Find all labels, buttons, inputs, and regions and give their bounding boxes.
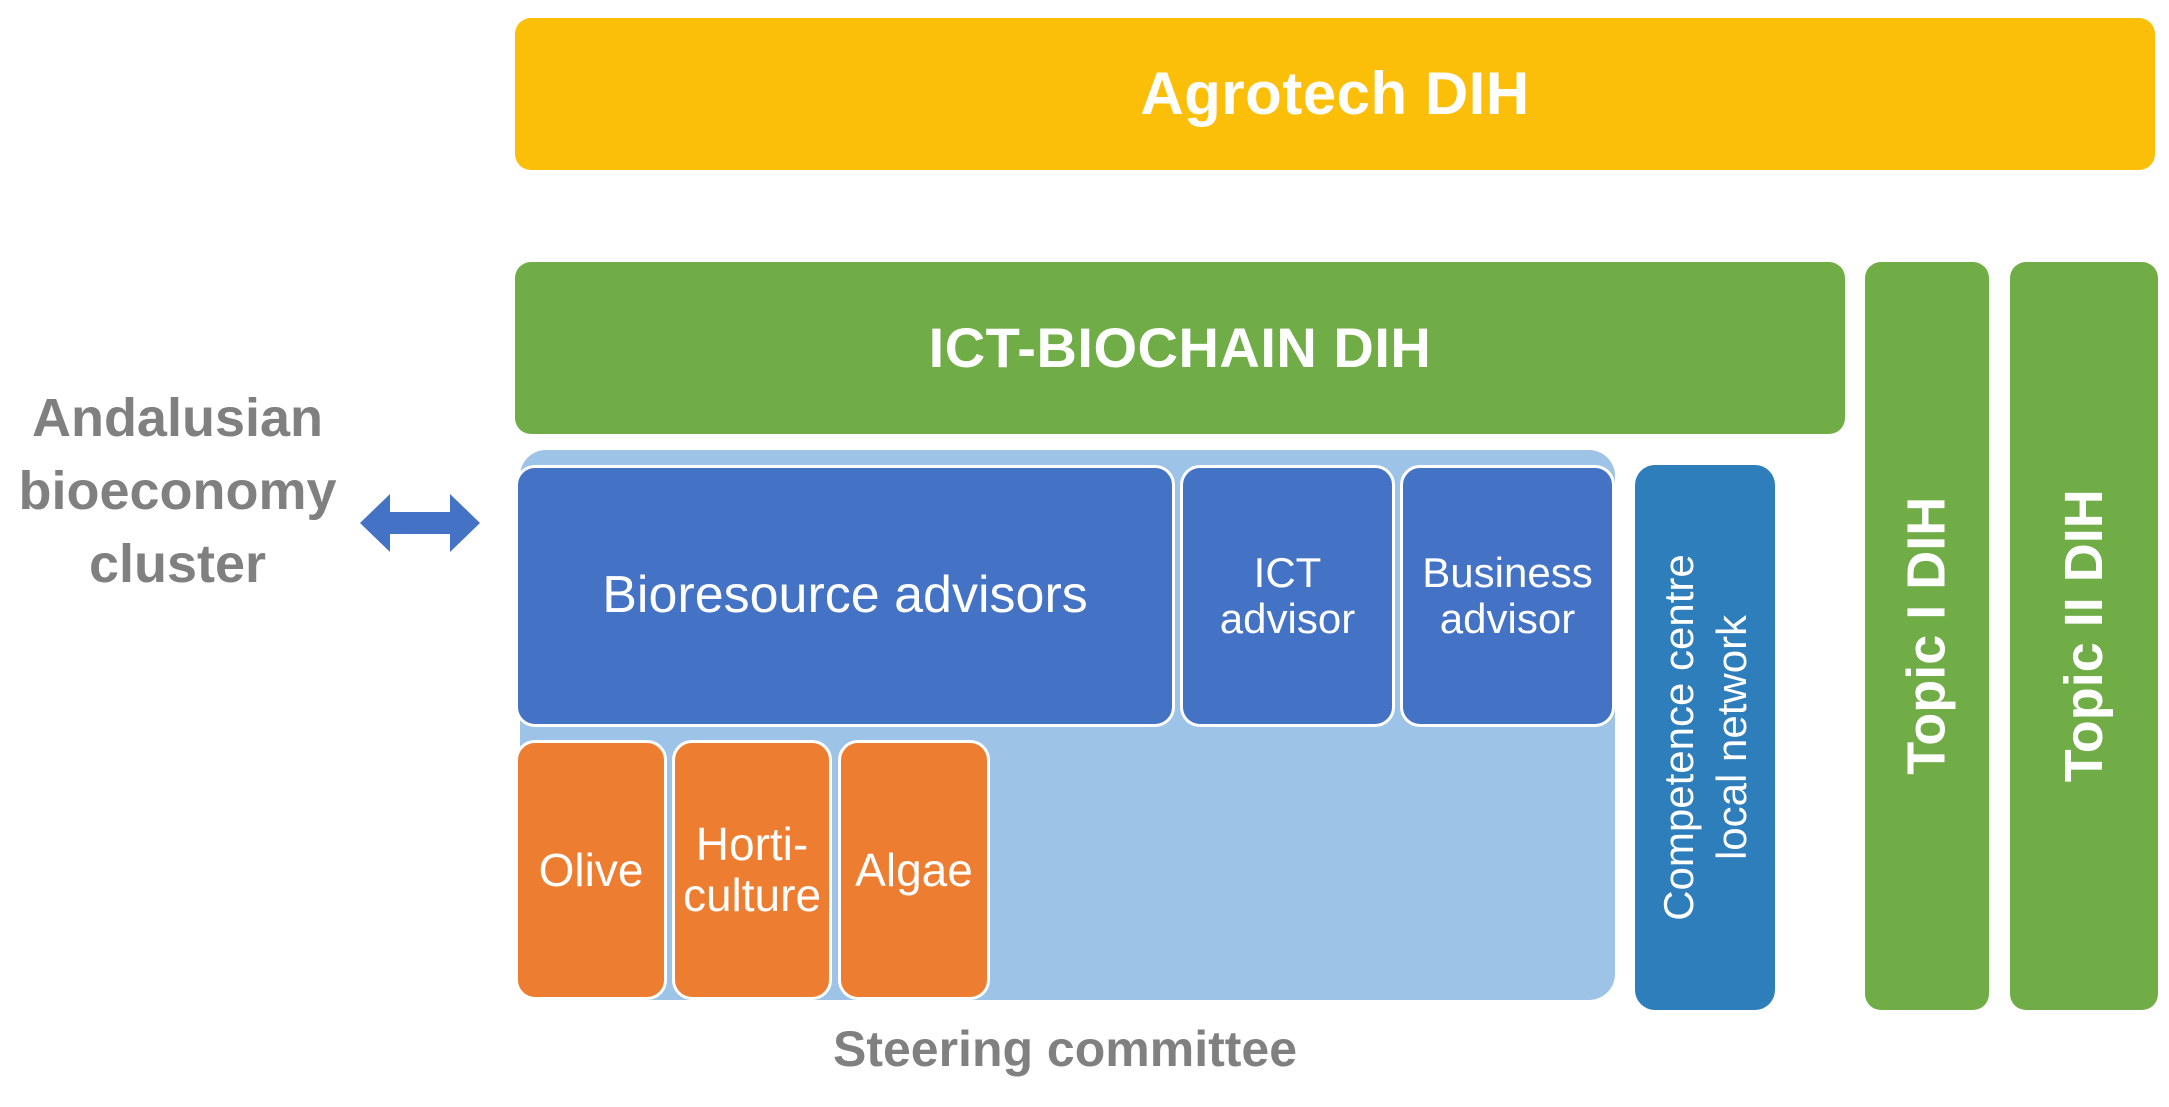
- topic-2-dih-label: Topic II DIH: [2054, 489, 2113, 782]
- ict-advisor-box[interactable]: ICT advisor: [1180, 465, 1395, 727]
- sector-horticulture-label-line-1: Horti-: [696, 818, 808, 870]
- sector-algae-box[interactable]: Algae: [838, 740, 990, 1000]
- cluster-label-line-3: cluster: [0, 528, 355, 601]
- competence-centre-label-line-1: Competence centre: [1655, 554, 1702, 921]
- agrotech-dih-bar[interactable]: Agrotech DIH: [515, 18, 2155, 170]
- cluster-label-line-2: bioeconomy: [0, 455, 355, 528]
- topic-1-dih-column[interactable]: Topic I DIH: [1865, 262, 1989, 1010]
- competence-centre-label-group: Competence centre local network: [1653, 554, 1758, 921]
- double-arrow-horizontal-icon: [360, 488, 480, 558]
- ict-advisor-label: ICT advisor: [1183, 550, 1392, 642]
- bioresource-advisors-label: Bioresource advisors: [602, 567, 1088, 624]
- sector-olive-box[interactable]: Olive: [515, 740, 667, 1000]
- sector-horticulture-label-line-2: culture: [683, 869, 821, 921]
- sector-olive-label: Olive: [539, 845, 644, 896]
- cluster-label-line-1: Andalusian: [0, 382, 355, 455]
- ict-biochain-dih-label: ICT-BIOCHAIN DIH: [929, 317, 1432, 379]
- competence-centre-local-network-box[interactable]: Competence centre local network: [1635, 465, 1775, 1010]
- agrotech-dih-label: Agrotech DIH: [1140, 61, 1529, 127]
- topic-1-dih-label: Topic I DIH: [1897, 497, 1956, 775]
- bioresource-advisors-box[interactable]: Bioresource advisors: [515, 465, 1175, 727]
- diagram-canvas: Agrotech DIH ICT-BIOCHAIN DIH Topic I DI…: [0, 0, 2169, 1107]
- steering-committee-label: Steering committee: [515, 1020, 1615, 1078]
- competence-centre-label-line-2: local network: [1707, 615, 1754, 860]
- steering-committee-text: Steering committee: [833, 1021, 1297, 1077]
- sector-horticulture-label-group: Horti- culture: [683, 819, 821, 920]
- andalusian-bioeconomy-cluster-label: Andalusian bioeconomy cluster: [0, 382, 355, 601]
- sector-algae-label: Algae: [855, 845, 973, 896]
- business-advisor-label: Business advisor: [1403, 550, 1612, 642]
- topic-2-dih-column[interactable]: Topic II DIH: [2010, 262, 2158, 1010]
- business-advisor-box[interactable]: Business advisor: [1400, 465, 1615, 727]
- ict-biochain-dih-bar[interactable]: ICT-BIOCHAIN DIH: [515, 262, 1845, 434]
- sector-horticulture-box[interactable]: Horti- culture: [672, 740, 832, 1000]
